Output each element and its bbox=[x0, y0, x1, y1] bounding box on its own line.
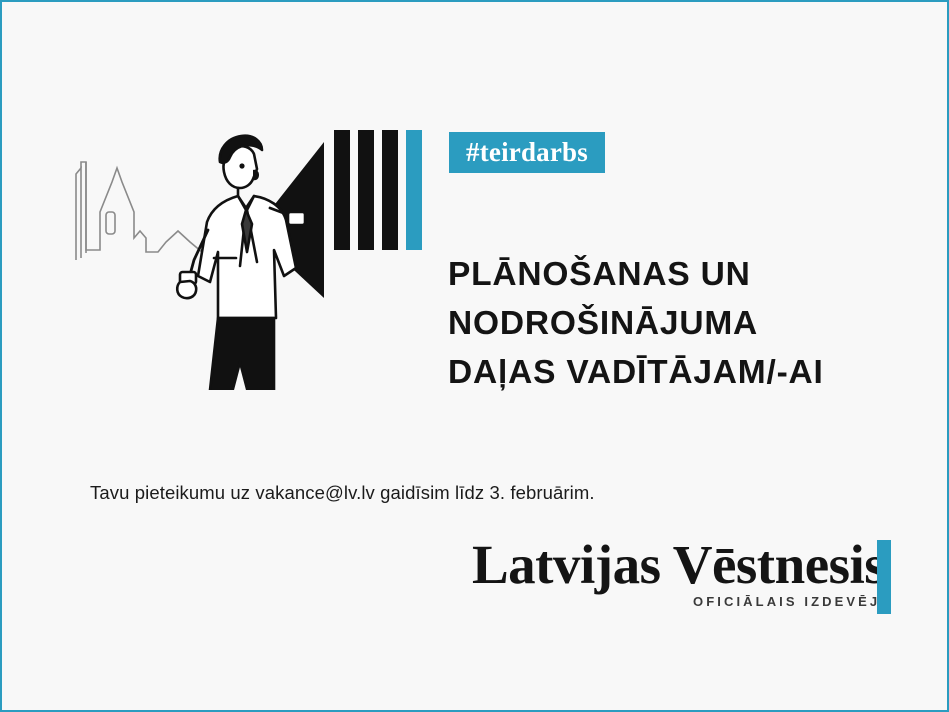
application-instructions: Tavu pieteikumu uz vakance@lv.lv gaidīsi… bbox=[90, 481, 595, 505]
sound-bar-2 bbox=[358, 130, 374, 250]
sound-bar-3 bbox=[382, 130, 398, 250]
logo-wordmark: Latvijas Vēstnesis bbox=[472, 536, 885, 594]
sound-bar-1 bbox=[334, 130, 350, 250]
logo-accent-bar bbox=[877, 540, 891, 614]
illustration-person-with-megaphone bbox=[62, 90, 442, 390]
job-advertisement-poster: #teirdarbs PLĀNOŠANAS UN NODROŠINĀJUMA D… bbox=[0, 0, 949, 712]
headline-line-1: PLĀNOŠANAS UN bbox=[448, 250, 918, 299]
sound-bar-4-accent bbox=[406, 130, 422, 250]
page-title: PLĀNOŠANAS UN NODROŠINĀJUMA DAļAS VADĪTĀ… bbox=[448, 250, 918, 397]
figure-person bbox=[177, 136, 305, 390]
logo-tagline: OFICIĀLAIS IZDEVĒJS bbox=[693, 594, 892, 609]
publisher-logo: Latvijas Vēstnesis OFICIĀLAIS IZDEVĒJS bbox=[472, 536, 892, 620]
hashtag-badge: #teirdarbs bbox=[449, 132, 605, 173]
headline-line-3: DAļAS VADĪTĀJAM/-AI bbox=[448, 348, 918, 397]
headline-line-2: NODROŠINĀJUMA bbox=[448, 299, 918, 348]
